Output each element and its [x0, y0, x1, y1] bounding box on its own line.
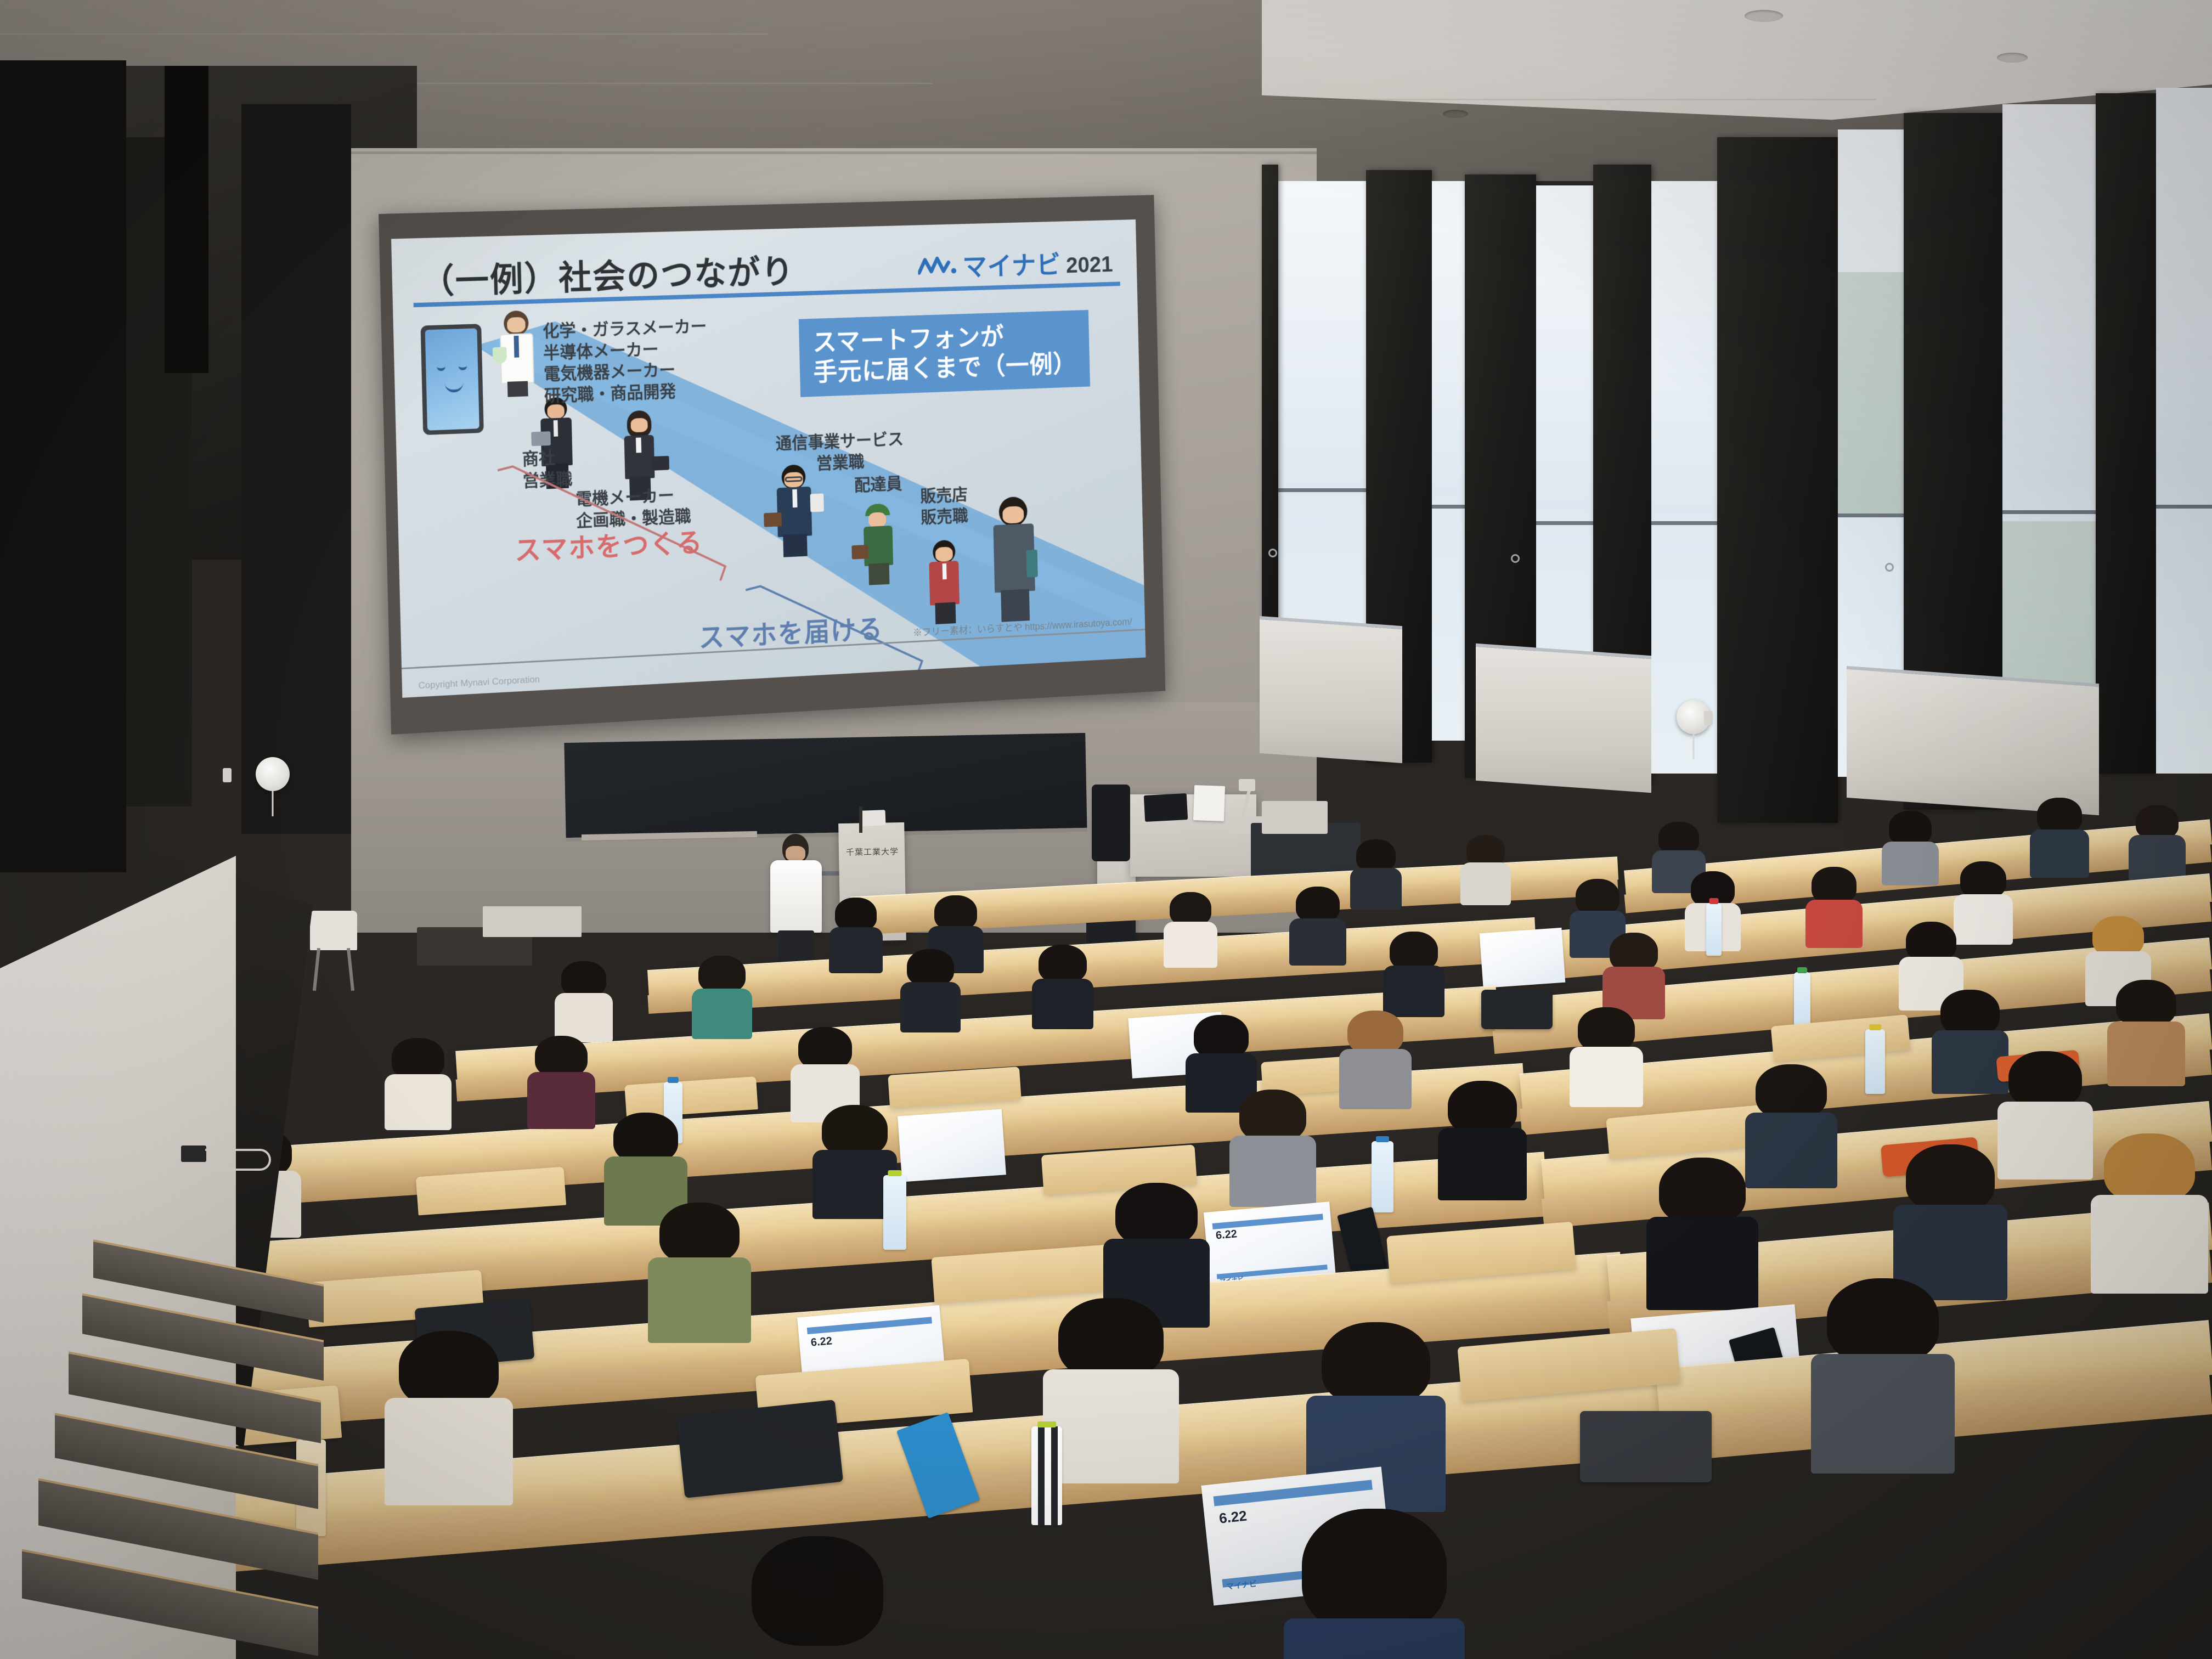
student-person-foreground: [735, 1536, 900, 1659]
student-person: [2129, 805, 2186, 880]
backpack: [676, 1400, 843, 1498]
drink-bottle: [1865, 1029, 1885, 1094]
window-pane: [1651, 181, 1717, 774]
student-person: [384, 1331, 513, 1501]
handout-date: 6.22: [1215, 1228, 1238, 1242]
power-cable: [205, 1149, 271, 1171]
left-wall-pier: [165, 66, 208, 373]
projection-screen: （一例）社会のつながり マイナビ 2021: [379, 195, 1165, 735]
backpack: [1481, 990, 1553, 1029]
student-person: [1646, 1158, 1759, 1307]
window-pane: [1432, 181, 1465, 741]
lecture-hall-photo: （一例）社会のつながり マイナビ 2021: [0, 0, 2212, 1659]
student-person: [1437, 1081, 1527, 1198]
window-latch-icon[interactable]: [1511, 554, 1520, 563]
student-person: [2107, 980, 2186, 1084]
student-person: [1229, 1090, 1317, 1205]
drink-bottle: [1372, 1141, 1393, 1212]
student-person: [1350, 839, 1402, 905]
student-person: [1163, 892, 1218, 966]
wall-seam: [351, 151, 1317, 154]
fan-arm: [1704, 711, 1713, 725]
student-person: [1893, 1144, 2008, 1297]
ceiling-seam: [0, 33, 768, 35]
student-person: [384, 1038, 452, 1128]
drink-bottle: [1794, 972, 1810, 1027]
student-person: [1997, 1051, 2093, 1177]
student-person: [1289, 887, 1346, 962]
presentation-slide: （一例）社会のつながり マイナビ 2021: [391, 219, 1145, 698]
student-person: [1602, 933, 1666, 1017]
window-latch-icon[interactable]: [1885, 563, 1894, 572]
bottle-holder: [1031, 1426, 1062, 1525]
handout-brand: マイナビ: [1226, 1578, 1257, 1592]
handout-paper: [1480, 928, 1566, 988]
student-person: [647, 1203, 752, 1340]
left-wall-pier: [0, 60, 126, 872]
student-person: [1042, 1298, 1180, 1479]
student-person: [900, 949, 961, 1030]
ceiling-vent-icon: [1997, 53, 2028, 63]
drink-bottle: [883, 1175, 906, 1250]
student-person: [1031, 945, 1094, 1027]
student-person: [1459, 835, 1512, 902]
student-person: [1569, 1007, 1644, 1105]
laptop-sleeve: [1580, 1411, 1712, 1482]
window-pier-wide: [1717, 137, 1838, 823]
seating-area: 6.22 マイナビ: [0, 757, 2212, 1659]
window-pane: [2156, 88, 2212, 774]
ceiling-vent-icon: [1745, 10, 1783, 22]
student-person: [527, 1036, 596, 1127]
student-person: [1810, 1278, 1955, 1470]
student-person: [691, 956, 753, 1037]
ceiling-seam: [1273, 99, 1876, 100]
handout-paper: [898, 1109, 1006, 1182]
handout-date: 6.22: [1218, 1508, 1248, 1527]
student-person: [1383, 932, 1445, 1015]
ceiling-vent-icon: [1443, 110, 1468, 118]
window-latch-icon[interactable]: [1268, 549, 1277, 557]
student-person: [1805, 867, 1863, 945]
drink-bottle: [1706, 903, 1722, 956]
balcony-parapet: [1260, 616, 1402, 763]
left-wall-pier: [241, 104, 351, 834]
student-person: [1882, 811, 1939, 883]
student-person-foreground: [1284, 1509, 1465, 1657]
window-pier: [2096, 93, 2156, 774]
floor-outlet-icon: [181, 1145, 206, 1162]
student-person: [2030, 798, 2089, 876]
student-person: [828, 898, 883, 970]
student-person: [2090, 1133, 2209, 1290]
student-person: [1339, 1011, 1412, 1107]
handout-date: 6.22: [810, 1335, 833, 1350]
student-person: [554, 961, 613, 1040]
